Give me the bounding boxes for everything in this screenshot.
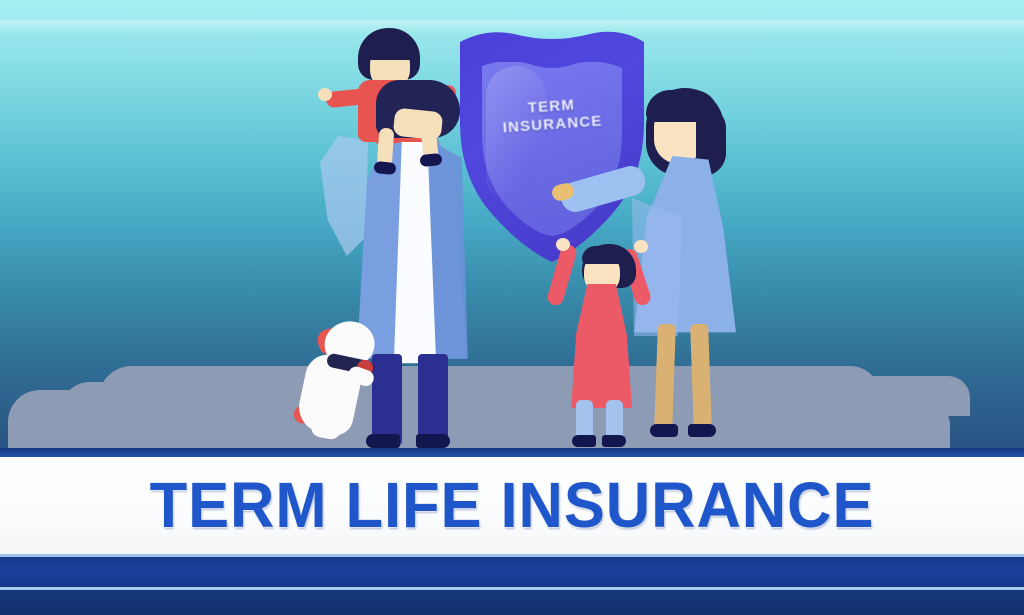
child-small-dress (570, 284, 632, 408)
adult-left-scarf (320, 136, 368, 256)
child-top-shoe-left (373, 161, 396, 175)
child-small-hair-fringe (582, 246, 630, 264)
child-small-shoe-left (572, 435, 596, 447)
child-small-shoe-right (602, 435, 626, 447)
figure-child-small (548, 230, 666, 448)
adult-left-shoe-right (416, 434, 450, 448)
banner-top-rule (0, 448, 1024, 457)
page-title: TERM LIFE INSURANCE (20, 469, 1003, 541)
ground-platform (0, 352, 1024, 457)
child-small-hand-right (634, 240, 648, 253)
banner-stripe-blue (0, 557, 1024, 587)
adult-right-shoe-right (688, 424, 716, 437)
ground-lobe-right-nub (840, 376, 970, 416)
child-small-arm-left (546, 243, 578, 307)
figure-child-on-shoulders (330, 28, 462, 148)
adult-right-leg-right (690, 324, 712, 433)
adult-left-coat-shadow (430, 140, 474, 368)
child-small-hand-left (556, 238, 570, 251)
term-life-insurance-banner: TERM INSURANCE (0, 0, 1024, 615)
banner-stripe-navy (0, 590, 1024, 615)
child-top-hand-left (318, 88, 332, 101)
child-top-hair-fringe (360, 38, 416, 60)
dog-icon (285, 307, 404, 447)
